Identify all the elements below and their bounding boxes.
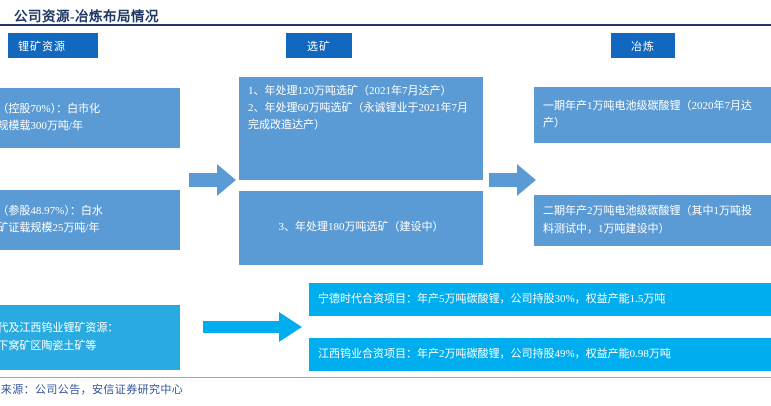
column-header-lithium-resources-label: 锂矿资源: [18, 38, 66, 54]
lithium-resource-box-1-text: ××春矿业（控股70%）：白市化 ××石矿证规模载300万吨/年: [0, 101, 171, 135]
jv-project-box-catl: 宁德时代合资项目：年产5万吨碳酸锂，公司持股30%，权益产能1.5万吨: [309, 283, 771, 316]
lithium-resource-box-3: ××宁德时代及江西钨业锂矿资源： ××矿、枧下窝矿区陶瓷土矿等: [0, 305, 180, 370]
column-header-smelting-label: 冶炼: [631, 38, 655, 54]
arrow-resources-to-jv-icon: [203, 310, 303, 344]
arrow-dressing-to-smelting-icon: [489, 163, 537, 197]
title-divider: [0, 24, 771, 26]
jv-project-box-jxtc-text: 江西钨业合资项目：年产2万吨碳酸锂，公司持股49%，权益产能0.98万吨: [318, 346, 671, 363]
arrow-lithium-to-dressing-icon: [189, 163, 237, 197]
jv-project-box-jxtc: 江西钨业合资项目：年产2万吨碳酸锂，公司持股49%，权益产能0.98万吨: [309, 338, 771, 371]
lithium-resource-box-1: ××春矿业（控股70%）：白市化 ××石矿证规模载300万吨/年: [0, 88, 180, 148]
page-title: 公司资源-冶炼布局情况: [14, 5, 159, 25]
smelting-box-2: 二期年产2万吨电池级碳酸锂（其中1万吨投料测试中，1万吨建设中）: [534, 195, 771, 246]
lithium-resource-box-2-text: ××锂矿业（参股48.97%）：白水 ××高岭土矿证载规模25万吨/年: [0, 203, 171, 237]
column-header-ore-dressing: 选矿: [286, 33, 352, 58]
smelting-box-1: 一期年产1万吨电池级碳酸锂（2020年7月达产）: [534, 87, 771, 143]
column-header-lithium-resources: 锂矿资源: [8, 33, 98, 58]
source-note: 资料来源：公司公告，安信证券研究中心: [0, 381, 183, 397]
footer-divider: [0, 377, 771, 378]
smelting-box-1-text: 一期年产1万吨电池级碳酸锂（2020年7月达产）: [543, 98, 762, 132]
lithium-resource-box-3-text: ××宁德时代及江西钨业锂矿资源： ××矿、枧下窝矿区陶瓷土矿等: [0, 320, 171, 354]
ore-dressing-box-1: 1、年处理120万吨选矿（2021年7月达产） 2、年处理60万吨选矿（永诚锂业…: [239, 77, 483, 180]
ore-dressing-box-1-text: 1、年处理120万吨选矿（2021年7月达产） 2、年处理60万吨选矿（永诚锂业…: [248, 83, 474, 134]
column-header-ore-dressing-label: 选矿: [307, 38, 331, 54]
ore-dressing-box-2: 3、年处理180万吨选矿（建设中）: [239, 191, 483, 265]
column-header-smelting: 冶炼: [611, 33, 675, 58]
jv-project-box-catl-text: 宁德时代合资项目：年产5万吨碳酸锂，公司持股30%，权益产能1.5万吨: [318, 291, 665, 308]
lithium-resource-box-2: ××锂矿业（参股48.97%）：白水 ××高岭土矿证载规模25万吨/年: [0, 190, 180, 250]
ore-dressing-box-2-text: 3、年处理180万吨选矿（建设中）: [279, 219, 444, 236]
smelting-box-2-text: 二期年产2万吨电池级碳酸锂（其中1万吨投料测试中，1万吨建设中）: [543, 203, 762, 237]
